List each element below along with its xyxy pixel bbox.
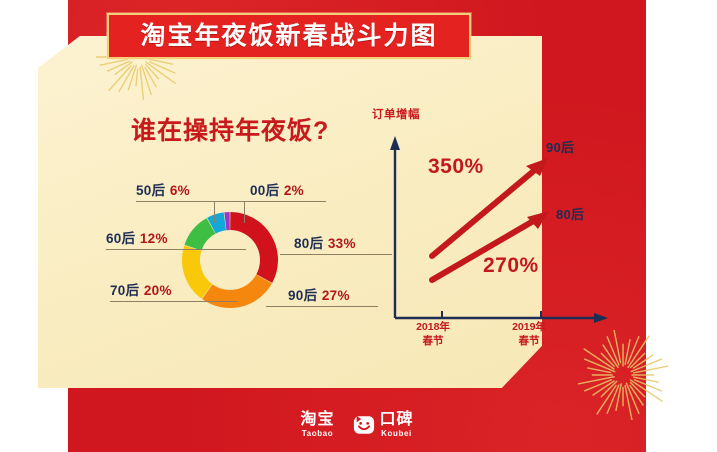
callout-rule (266, 306, 378, 307)
growth-value-80hou: 270% (483, 255, 539, 276)
y-axis (390, 136, 400, 318)
infographic-canvas: 淘宝年夜饭新春战斗力图 谁在操持年夜饭? 50后 6% 60后 12% 70后 … (0, 0, 717, 452)
callout-rule (214, 201, 326, 202)
pie-callout-value-90hou: 27% (322, 288, 350, 303)
growth-x-tick-2018: 2018年 春节 (404, 320, 462, 348)
donut-slice-90后 (207, 279, 264, 299)
pie-callout-90hou: 90后 27% (288, 288, 350, 304)
growth-label-90hou: 90后 (546, 141, 574, 154)
footer-logos: 淘宝 Taobao 口碑 Koubei (68, 398, 646, 452)
x-tick-festival: 春节 (500, 334, 558, 348)
pie-callout-label-50hou: 50后 (136, 183, 165, 198)
page-title: 淘宝年夜饭新春战斗力图 (140, 24, 437, 49)
pie-callout-50hou: 50后 6% (136, 183, 190, 199)
callout-tick (214, 201, 215, 223)
pie-callout-80hou: 80后 33% (294, 236, 356, 252)
pie-callout-60hou: 60后 12% (106, 231, 168, 247)
pie-callout-70hou: 70后 20% (110, 283, 172, 299)
donut-slice-70后 (191, 248, 207, 291)
pie-section-heading: 谁在操持年夜饭? (131, 119, 329, 144)
pie-callout-label-80hou: 80后 (294, 236, 323, 251)
pie-callout-value-60hou: 12% (140, 231, 168, 246)
pie-callout-00hou: 00后 2% (250, 183, 304, 199)
pie-callout-value-80hou: 33% (328, 236, 356, 251)
donut-chart (178, 208, 282, 312)
donut-slice-60后 (193, 226, 211, 248)
taobao-logo-cn: 淘宝 (300, 412, 334, 428)
pie-callout-value-00hou: 2% (284, 183, 304, 198)
x-tick-year: 2019年 (500, 320, 558, 334)
growth-y-axis-label: 订单增幅 (372, 110, 420, 122)
x-tick-year: 2018年 (404, 320, 462, 334)
growth-value-90hou: 350% (428, 156, 484, 177)
x-tick-festival: 春节 (404, 334, 462, 348)
pie-callout-label-00hou: 00后 (250, 183, 279, 198)
koubei-smiley-icon (353, 414, 375, 436)
callout-rule (110, 301, 238, 302)
koubei-logo-text: 口碑 Koubei (380, 412, 414, 438)
growth-x-tick-2019: 2019年 春节 (500, 320, 558, 348)
koubei-logo: 口碑 Koubei (353, 412, 414, 438)
callout-tick (244, 201, 245, 223)
koubei-logo-en: Koubei (381, 430, 412, 438)
taobao-logo: 淘宝 Taobao (300, 412, 334, 438)
koubei-logo-cn: 口碑 (380, 412, 414, 428)
growth-label-80hou: 80后 (556, 208, 584, 221)
taobao-logo-en: Taobao (302, 430, 333, 438)
pie-callout-value-50hou: 6% (170, 183, 190, 198)
callout-rule (106, 249, 246, 250)
pie-callout-label-70hou: 70后 (110, 283, 139, 298)
growth-chart (370, 108, 625, 353)
pie-callout-label-60hou: 60后 (106, 231, 135, 246)
title-banner: 淘宝年夜饭新春战斗力图 (107, 13, 471, 59)
pie-callout-label-90hou: 90后 (288, 288, 317, 303)
pie-callout-value-70hou: 20% (144, 283, 172, 298)
